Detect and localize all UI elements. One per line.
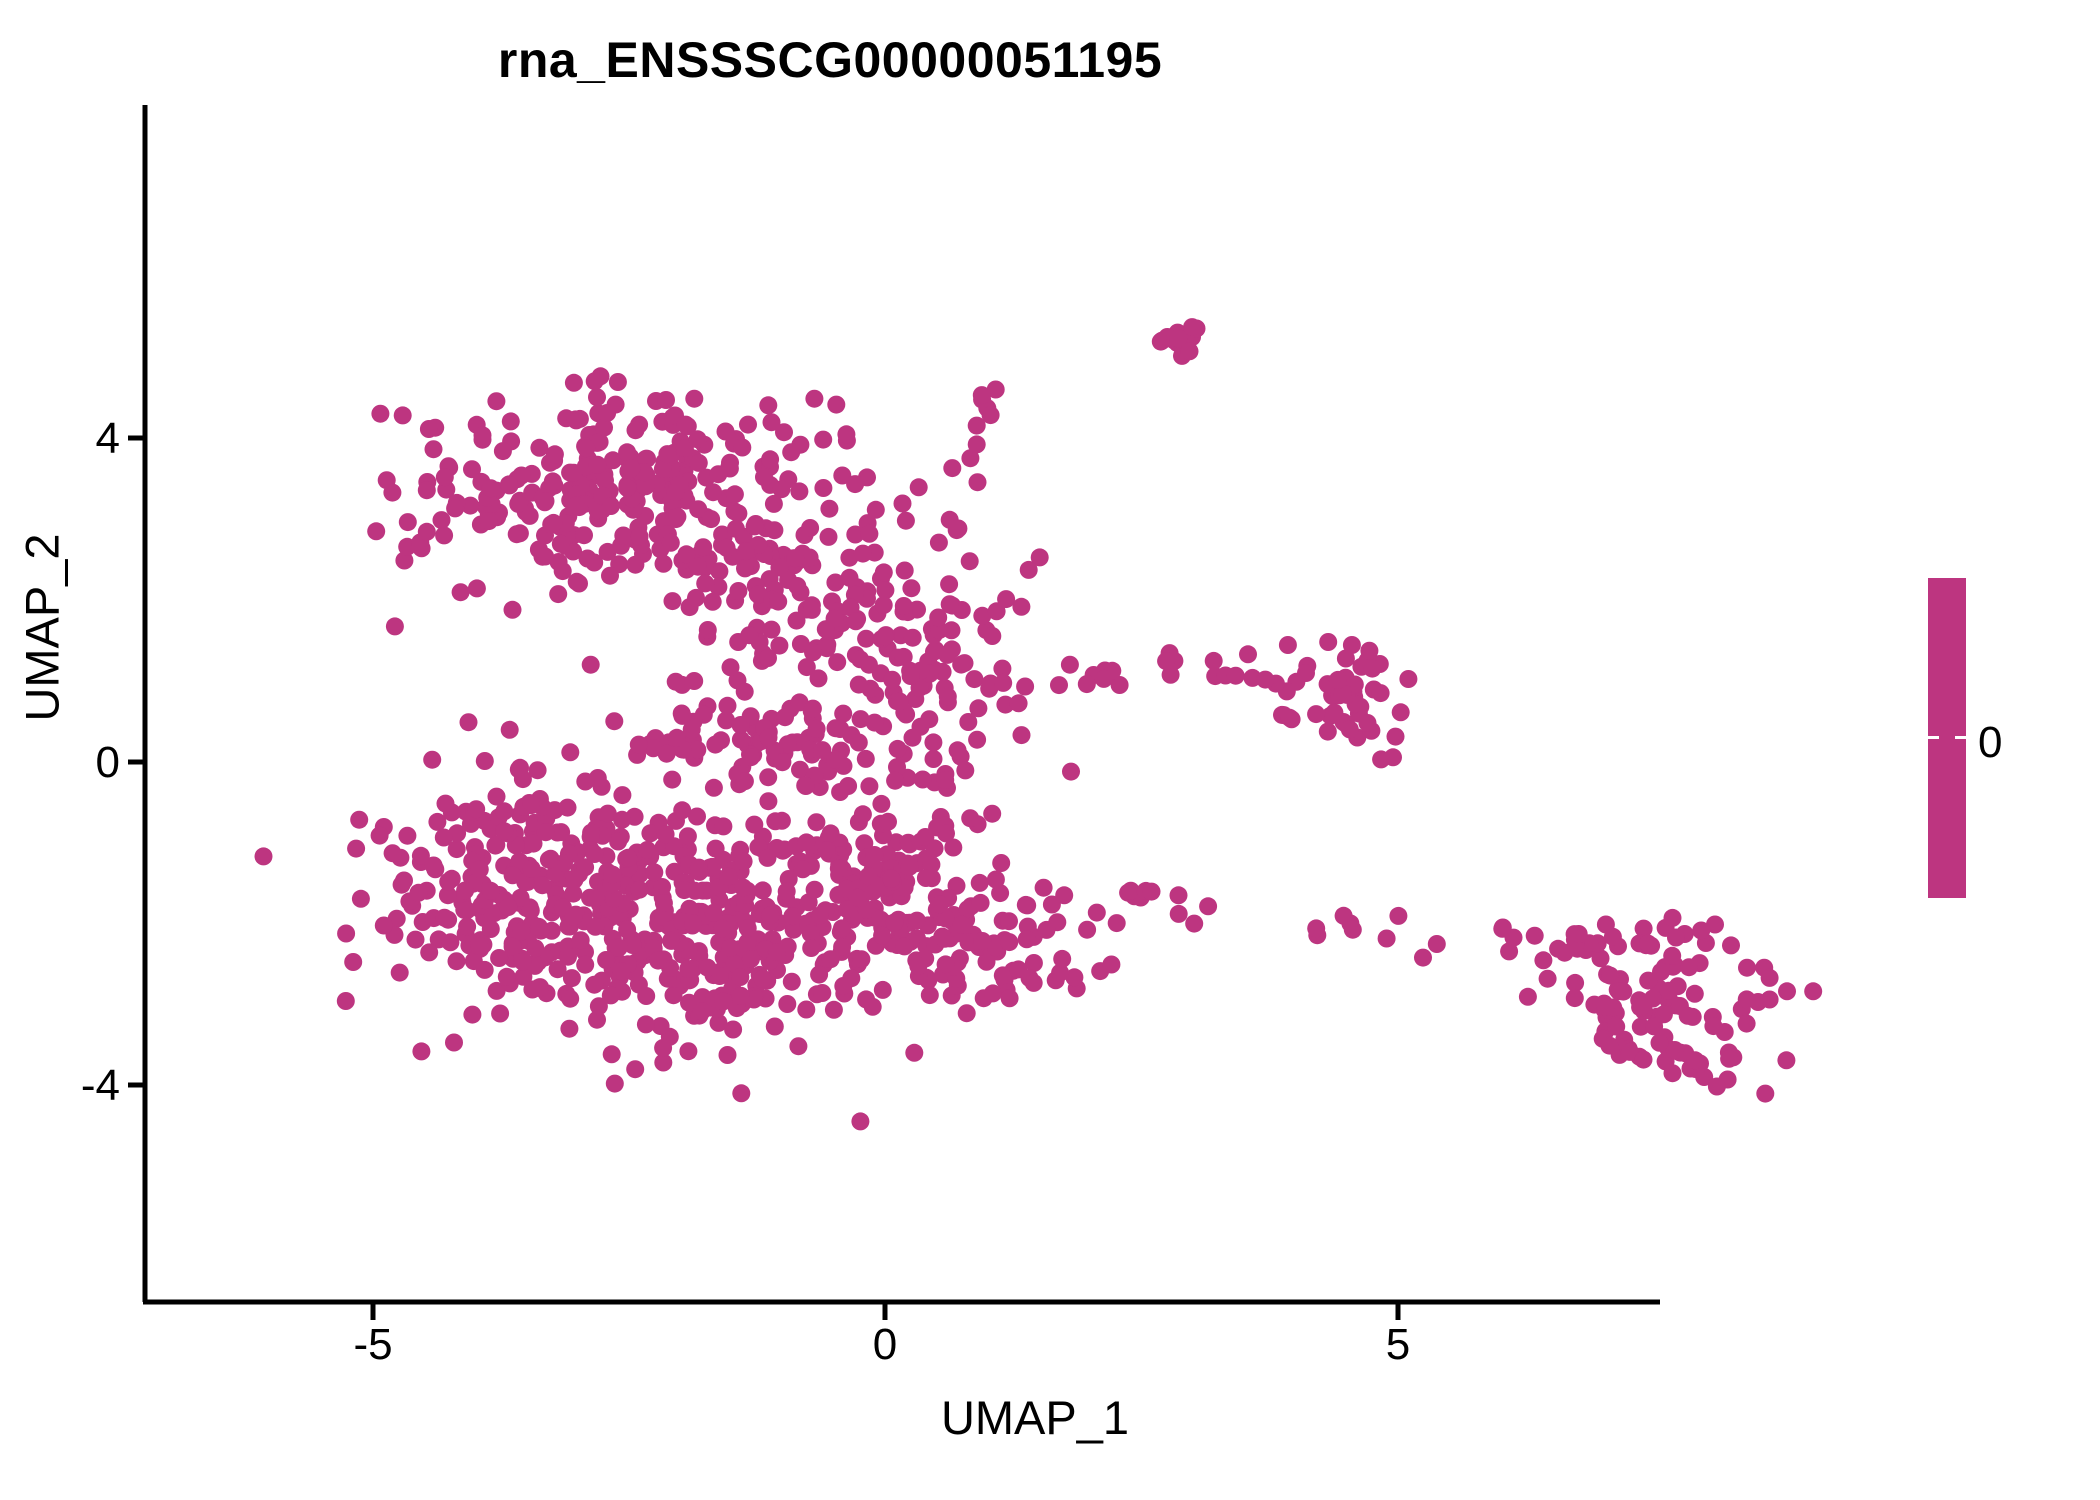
legend-colorbar: 0 bbox=[1928, 578, 1966, 898]
scatter-panel bbox=[0, 0, 2100, 1500]
legend-value-label: 0 bbox=[1978, 718, 2002, 768]
umap-figure: rna_ENSSSCG00000051195 UMAP_2 UMAP_1 4 0… bbox=[0, 0, 2100, 1500]
scatter-points bbox=[255, 318, 1823, 1130]
legend-tick-right bbox=[1955, 736, 1966, 739]
axis-ticks bbox=[128, 438, 1398, 1320]
legend-tick-left bbox=[1928, 736, 1939, 739]
